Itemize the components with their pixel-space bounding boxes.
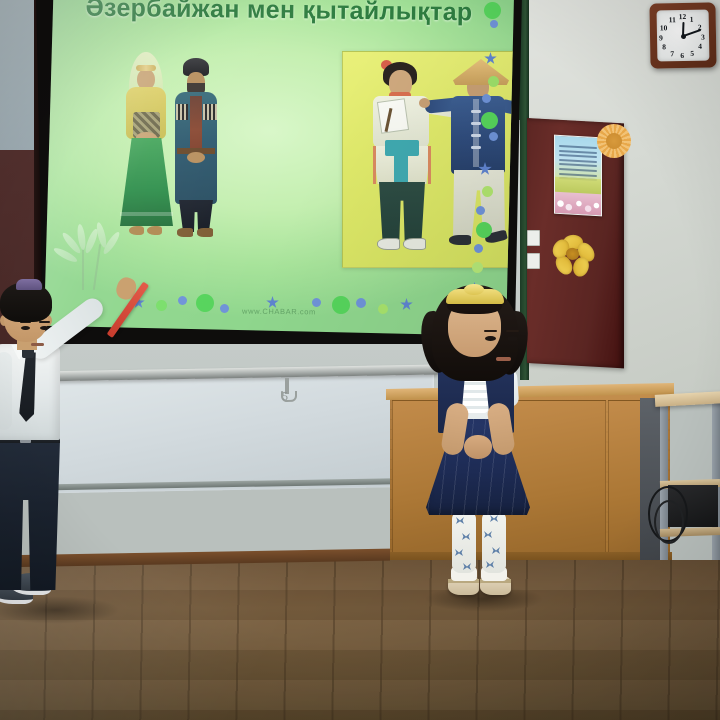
whiteboard-mark: 5 (282, 389, 292, 402)
clock-numeral: 12 (679, 13, 687, 21)
girl-clasped-hands (464, 435, 492, 459)
boy-eye (21, 326, 30, 330)
clock-numeral: 10 (660, 24, 668, 32)
girl-skirt-folds (426, 419, 530, 515)
clock-numeral: 8 (662, 43, 666, 51)
poster-flower-image (555, 192, 601, 216)
decor-dot-green (481, 112, 498, 129)
decor-dot-green (482, 186, 493, 197)
boy-trousers (0, 440, 60, 590)
girl-tights (452, 511, 476, 573)
clock-numeral: 7 (670, 50, 674, 58)
decor-dot-blue (490, 20, 498, 28)
clock-numeral: 4 (698, 43, 702, 51)
boy-mouth (31, 343, 44, 346)
clock-numeral: 6 (680, 52, 684, 60)
decor-dot-green (472, 262, 483, 273)
decor-dot-blue (356, 298, 366, 308)
girl-eye (485, 336, 496, 341)
decor-dot-green (484, 2, 501, 19)
slide-title: Әзербайжан мен қытайлықтар (44, 0, 514, 28)
girl-tights (482, 511, 506, 573)
clock-numeral: 5 (690, 50, 694, 58)
wall-clock: 12 1 2 3 4 5 6 7 8 9 10 11 (649, 2, 716, 68)
girl-mouth (496, 357, 511, 361)
decor-dot-blue (178, 296, 187, 305)
girl-presenter (420, 283, 538, 608)
light-switch[interactable] (527, 230, 540, 246)
desk-top (655, 391, 720, 407)
yellow-flower-decoration (552, 234, 596, 276)
clock-center-pin (680, 34, 685, 39)
clock-face: 12 1 2 3 4 5 6 7 8 9 10 11 (657, 10, 710, 62)
clock-numeral: 1 (690, 16, 694, 24)
girl-eyebrow (506, 330, 519, 332)
decor-dot-green (488, 76, 499, 87)
decor-dot-blue (482, 94, 491, 103)
sunflower-core (606, 133, 622, 149)
sunflower-decoration (597, 124, 631, 158)
power-outlet[interactable] (527, 253, 540, 269)
girl-eye (507, 336, 518, 341)
boy-hair-clip (16, 279, 42, 290)
boy-left-arm (0, 352, 12, 430)
clock-numeral: 3 (701, 34, 705, 42)
boy-eye (40, 326, 49, 330)
decor-dot-blue (312, 298, 321, 307)
girl-headband-bow (464, 284, 484, 295)
decor-dot-green (476, 222, 492, 238)
decor-dot-blue (476, 206, 485, 215)
boy-eyebrow (39, 321, 50, 323)
clock-numeral: 9 (659, 34, 663, 42)
wall-corner-shadow (640, 398, 660, 578)
cable (654, 500, 684, 544)
decor-dot-blue (474, 244, 483, 253)
classroom-photo: 12 1 2 3 4 5 6 7 8 9 10 11 (0, 0, 720, 720)
boy-presenter (0, 282, 144, 612)
clock-numeral: 11 (669, 16, 676, 24)
clock-minute-hand (683, 29, 702, 37)
yellow-flower-core (566, 248, 579, 261)
decor-dot-blue (489, 132, 498, 141)
girl-eyebrow (484, 330, 497, 332)
motivational-poster (554, 135, 602, 217)
